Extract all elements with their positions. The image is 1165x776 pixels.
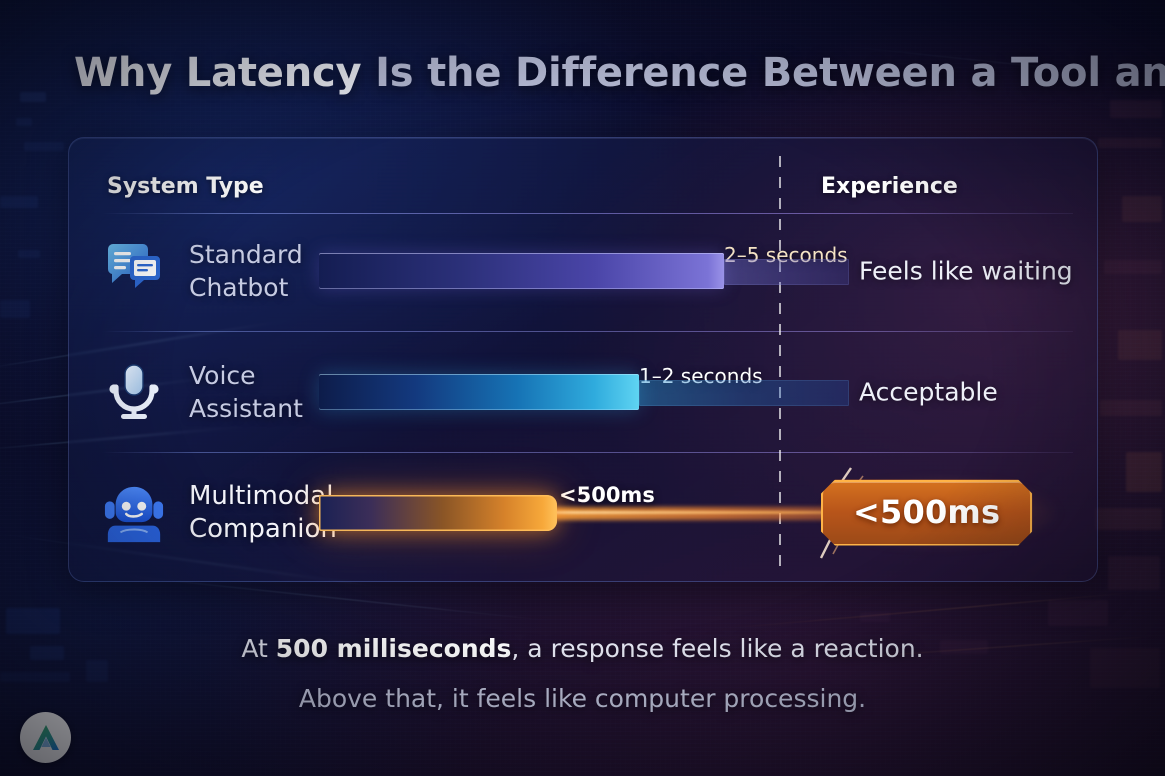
experience-text: Acceptable	[859, 377, 998, 406]
latency-bar-primary	[319, 495, 557, 531]
robot-headset-icon	[103, 482, 165, 544]
latency-bar-group: 1–2 seconds	[319, 370, 939, 414]
infographic-canvas: Why Latency Is the Difference Between a …	[0, 0, 1165, 776]
page-title: Why Latency Is the Difference Between a …	[74, 50, 1134, 96]
table-row[interactable]: Standard Chatbot 2–5 seconds Feels like …	[69, 210, 1097, 331]
footer-line-1-prefix: At	[241, 634, 275, 663]
row-label-system-type: Multimodal Companion	[189, 480, 337, 546]
latency-bar-primary	[319, 374, 639, 410]
row-label-system-type: Voice Assistant	[189, 359, 303, 425]
latency-bar-extension	[724, 259, 849, 285]
chat-bubbles-icon	[103, 240, 165, 302]
column-header-system-type: System Type	[107, 174, 264, 199]
column-header-experience: Experience	[821, 174, 958, 199]
status-badge: <500ms	[821, 480, 1032, 546]
microphone-icon	[103, 361, 165, 423]
experience-text: Feels like waiting	[859, 256, 1073, 285]
latency-bar-extension	[639, 380, 849, 406]
footer-line-2: Above that, it feels like computer proce…	[0, 684, 1165, 713]
page-title-rest: Is the Difference Between a Tool and a C…	[361, 50, 1165, 96]
table-row[interactable]: Voice Assistant 1–2 seconds Acceptable	[69, 331, 1097, 452]
footer-line-1-bold: 500 milliseconds	[276, 634, 512, 663]
latency-bar-primary	[319, 253, 724, 289]
brand-logo[interactable]	[20, 712, 71, 763]
comparison-panel: System Type Experience	[68, 137, 1098, 582]
footer-line-1: At 500 milliseconds, a response feels li…	[0, 634, 1165, 663]
latency-bar-group: 2–5 seconds	[319, 249, 939, 293]
brand-logo-icon	[29, 721, 63, 755]
page-title-highlight: Why Latency	[74, 50, 361, 96]
latency-value-label: <500ms	[559, 483, 655, 507]
footer-line-1-suffix: , a response feels like a reaction.	[511, 634, 923, 663]
row-label-system-type: Standard Chatbot	[189, 238, 303, 304]
table-row[interactable]: Multimodal Companion <500ms <500ms	[69, 452, 1097, 573]
